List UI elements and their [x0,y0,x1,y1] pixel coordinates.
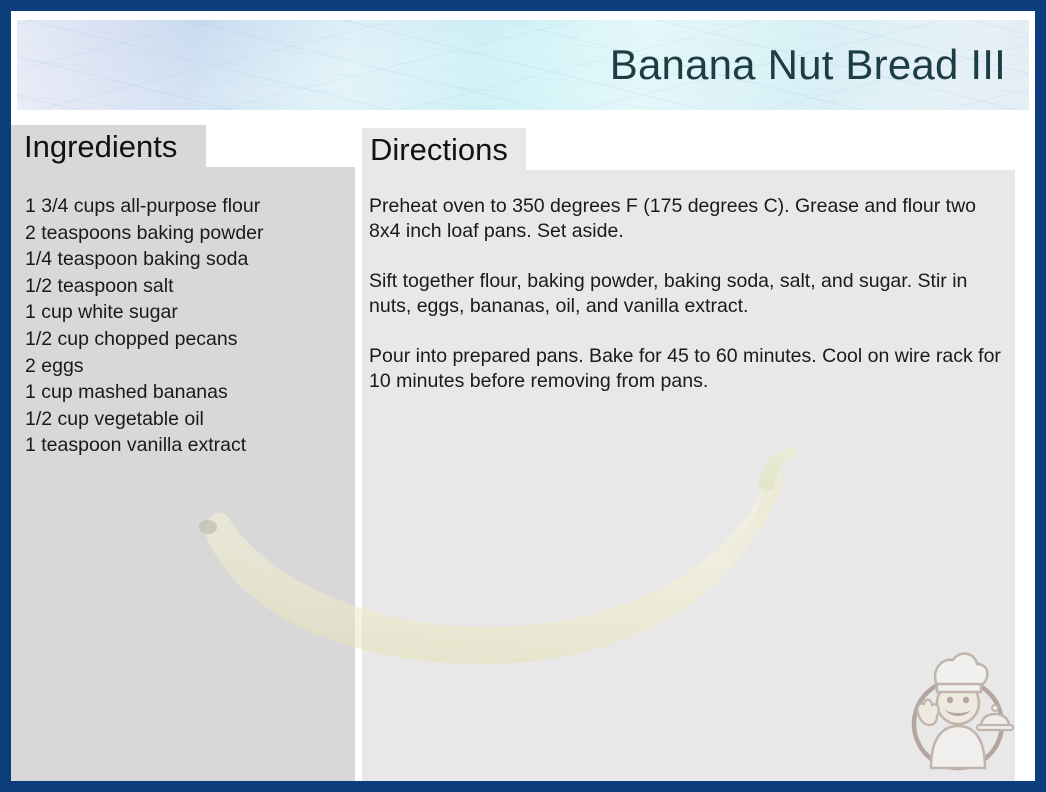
list-item: 2 teaspoons baking powder [25,220,264,247]
direction-step: Preheat oven to 350 degrees F (175 degre… [369,194,1005,244]
card-border-right [1035,0,1046,792]
card-border-bottom [0,781,1046,792]
ingredients-heading: Ingredients [11,125,206,167]
list-item: 1 cup mashed bananas [25,379,264,406]
directions-heading: Directions [362,128,526,170]
direction-step: Sift together flour, baking powder, baki… [369,269,1005,319]
card-border-top [0,0,1046,11]
list-item: 1/2 cup chopped pecans [25,326,264,353]
list-item: 1 3/4 cups all-purpose flour [25,193,264,220]
list-item: 1/2 teaspoon salt [25,273,264,300]
header-banner: Banana Nut Bread III [17,20,1029,110]
direction-step: Pour into prepared pans. Bake for 45 to … [369,344,1005,394]
recipe-title: Banana Nut Bread III [610,44,1006,86]
recipe-card: Banana Nut Bread III Ingredients 1 3/4 c… [0,0,1046,792]
list-item: 1 teaspoon vanilla extract [25,432,264,459]
ingredients-panel: 1 3/4 cups all-purpose flour 2 teaspoons… [11,167,355,781]
list-item: 1 cup white sugar [25,299,264,326]
list-item: 2 eggs [25,353,264,380]
ingredients-list: 1 3/4 cups all-purpose flour 2 teaspoons… [25,193,264,459]
list-item: 1/2 cup vegetable oil [25,406,264,433]
list-item: 1/4 teaspoon baking soda [25,246,264,273]
directions-panel: Preheat oven to 350 degrees F (175 degre… [362,170,1015,781]
card-border-left [0,0,11,792]
directions-steps: Preheat oven to 350 degrees F (175 degre… [369,194,1005,394]
